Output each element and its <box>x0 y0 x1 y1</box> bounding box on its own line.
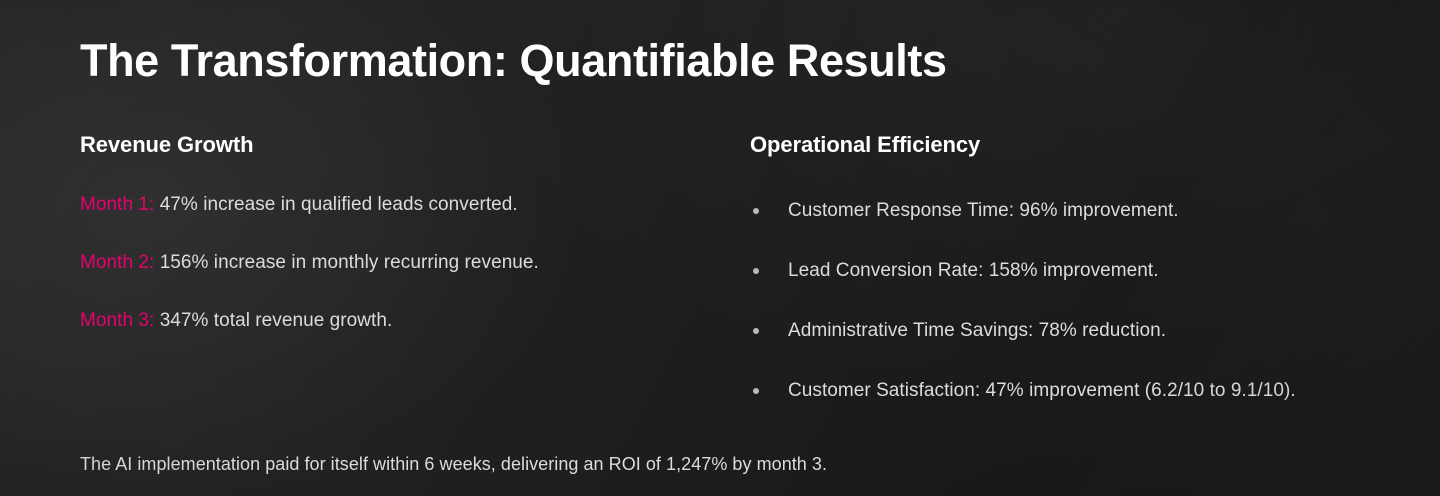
list-item: Customer Satisfaction: 47% improvement (… <box>750 372 1390 409</box>
page-title: The Transformation: Quantifiable Results <box>80 36 947 86</box>
operational-efficiency-list: Customer Response Time: 96% improvement.… <box>750 192 1390 432</box>
month-label: Month 1: <box>80 194 154 215</box>
list-item: Month 2: 156% increase in monthly recurr… <box>80 252 700 310</box>
month-label: Month 2: <box>80 252 154 273</box>
column-revenue-growth: Revenue Growth Month 1: 47% increase in … <box>80 132 700 158</box>
list-item: Month 1: 47% increase in qualified leads… <box>80 194 700 252</box>
month-text: 156% increase in monthly recurring reven… <box>160 252 539 273</box>
footer-note: The AI implementation paid for itself wi… <box>80 452 827 476</box>
bullet-dot-icon <box>753 208 759 214</box>
month-text: 47% increase in qualified leads converte… <box>160 194 518 215</box>
column-heading-operational-efficiency: Operational Efficiency <box>750 132 1390 158</box>
slide-canvas: The Transformation: Quantifiable Results… <box>0 0 1440 496</box>
list-item: Lead Conversion Rate: 158% improvement. <box>750 252 1390 289</box>
month-label: Month 3: <box>80 310 154 331</box>
month-text: 347% total revenue growth. <box>160 310 393 331</box>
list-item-text: Customer Response Time: 96% improvement. <box>788 200 1179 221</box>
list-item: Customer Response Time: 96% improvement. <box>750 192 1390 229</box>
list-item-text: Customer Satisfaction: 47% improvement (… <box>788 380 1296 401</box>
list-item-text: Administrative Time Savings: 78% reducti… <box>788 320 1166 341</box>
bullet-dot-icon <box>753 268 759 274</box>
revenue-growth-list: Month 1: 47% increase in qualified leads… <box>80 194 700 368</box>
column-operational-efficiency: Operational Efficiency Customer Response… <box>750 132 1390 158</box>
list-item: Administrative Time Savings: 78% reducti… <box>750 312 1390 349</box>
bullet-dot-icon <box>753 328 759 334</box>
list-item: Month 3: 347% total revenue growth. <box>80 310 700 368</box>
bullet-dot-icon <box>753 388 759 394</box>
column-heading-revenue-growth: Revenue Growth <box>80 132 700 158</box>
list-item-text: Lead Conversion Rate: 158% improvement. <box>788 260 1159 281</box>
